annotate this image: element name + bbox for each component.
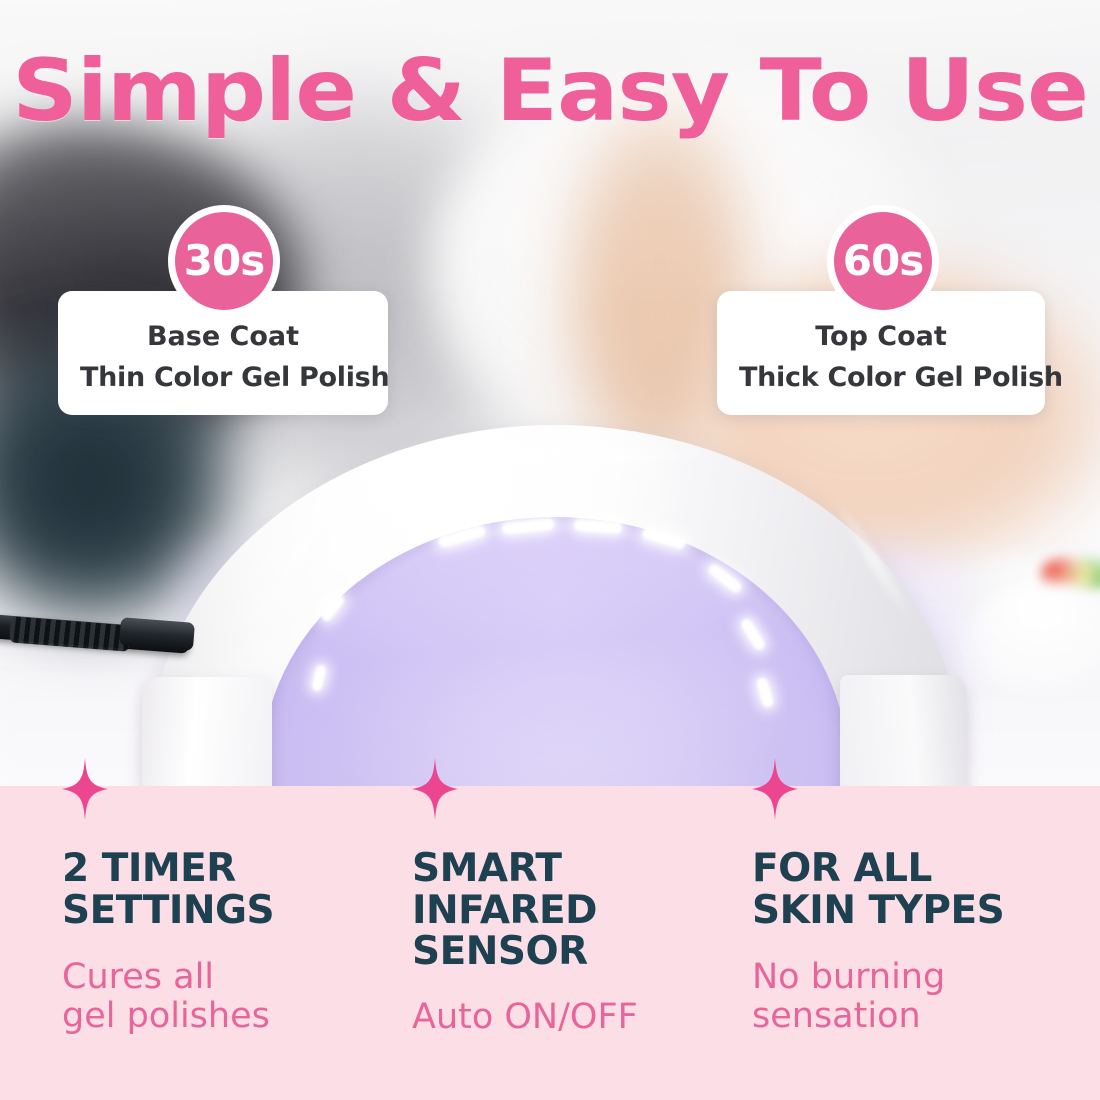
- feature-subtitle: Auto ON/OFF: [412, 998, 638, 1037]
- sparkle-icon: [62, 758, 108, 820]
- infographic-page: Simple & Easy To Use 30s Base Coat Thin …: [0, 0, 1100, 1100]
- timer-badge-seconds: 60s: [843, 240, 923, 282]
- feature-list: 2 TIMER SETTINGS Cures all gel polishes …: [0, 786, 1100, 1100]
- page-title: Simple & Easy To Use: [0, 48, 1100, 134]
- lamp-foot-right: [840, 675, 966, 790]
- timer-badge-polish-label: Thin Color Gel Polish: [80, 362, 366, 393]
- timer-badge-coat-label: Top Coat: [739, 321, 1023, 352]
- power-cable-connector: [119, 617, 195, 651]
- timer-badge-seconds: 30s: [184, 240, 264, 282]
- uv-lamp: [150, 425, 960, 790]
- feature-title: FOR ALL SKIN TYPES: [752, 848, 1004, 931]
- lamp-foot-left: [142, 677, 272, 790]
- feature-subtitle: No burning sensation: [752, 958, 945, 1036]
- feature-subtitle: Cures all gel polishes: [62, 958, 270, 1036]
- lamp-gloss-top: [386, 447, 716, 463]
- feature-title: 2 TIMER SETTINGS: [62, 848, 274, 931]
- sparkle-icon: [412, 758, 458, 820]
- sparkle-icon: [752, 758, 798, 820]
- timer-badge-coat-label: Base Coat: [80, 321, 366, 352]
- timer-badge-circle-30s: 30s: [168, 205, 280, 317]
- timer-badge-circle-60s: 60s: [827, 205, 939, 317]
- timer-badge-polish-label: Thick Color Gel Polish: [739, 362, 1023, 393]
- feature-title: SMART INFARED SENSOR: [412, 848, 597, 973]
